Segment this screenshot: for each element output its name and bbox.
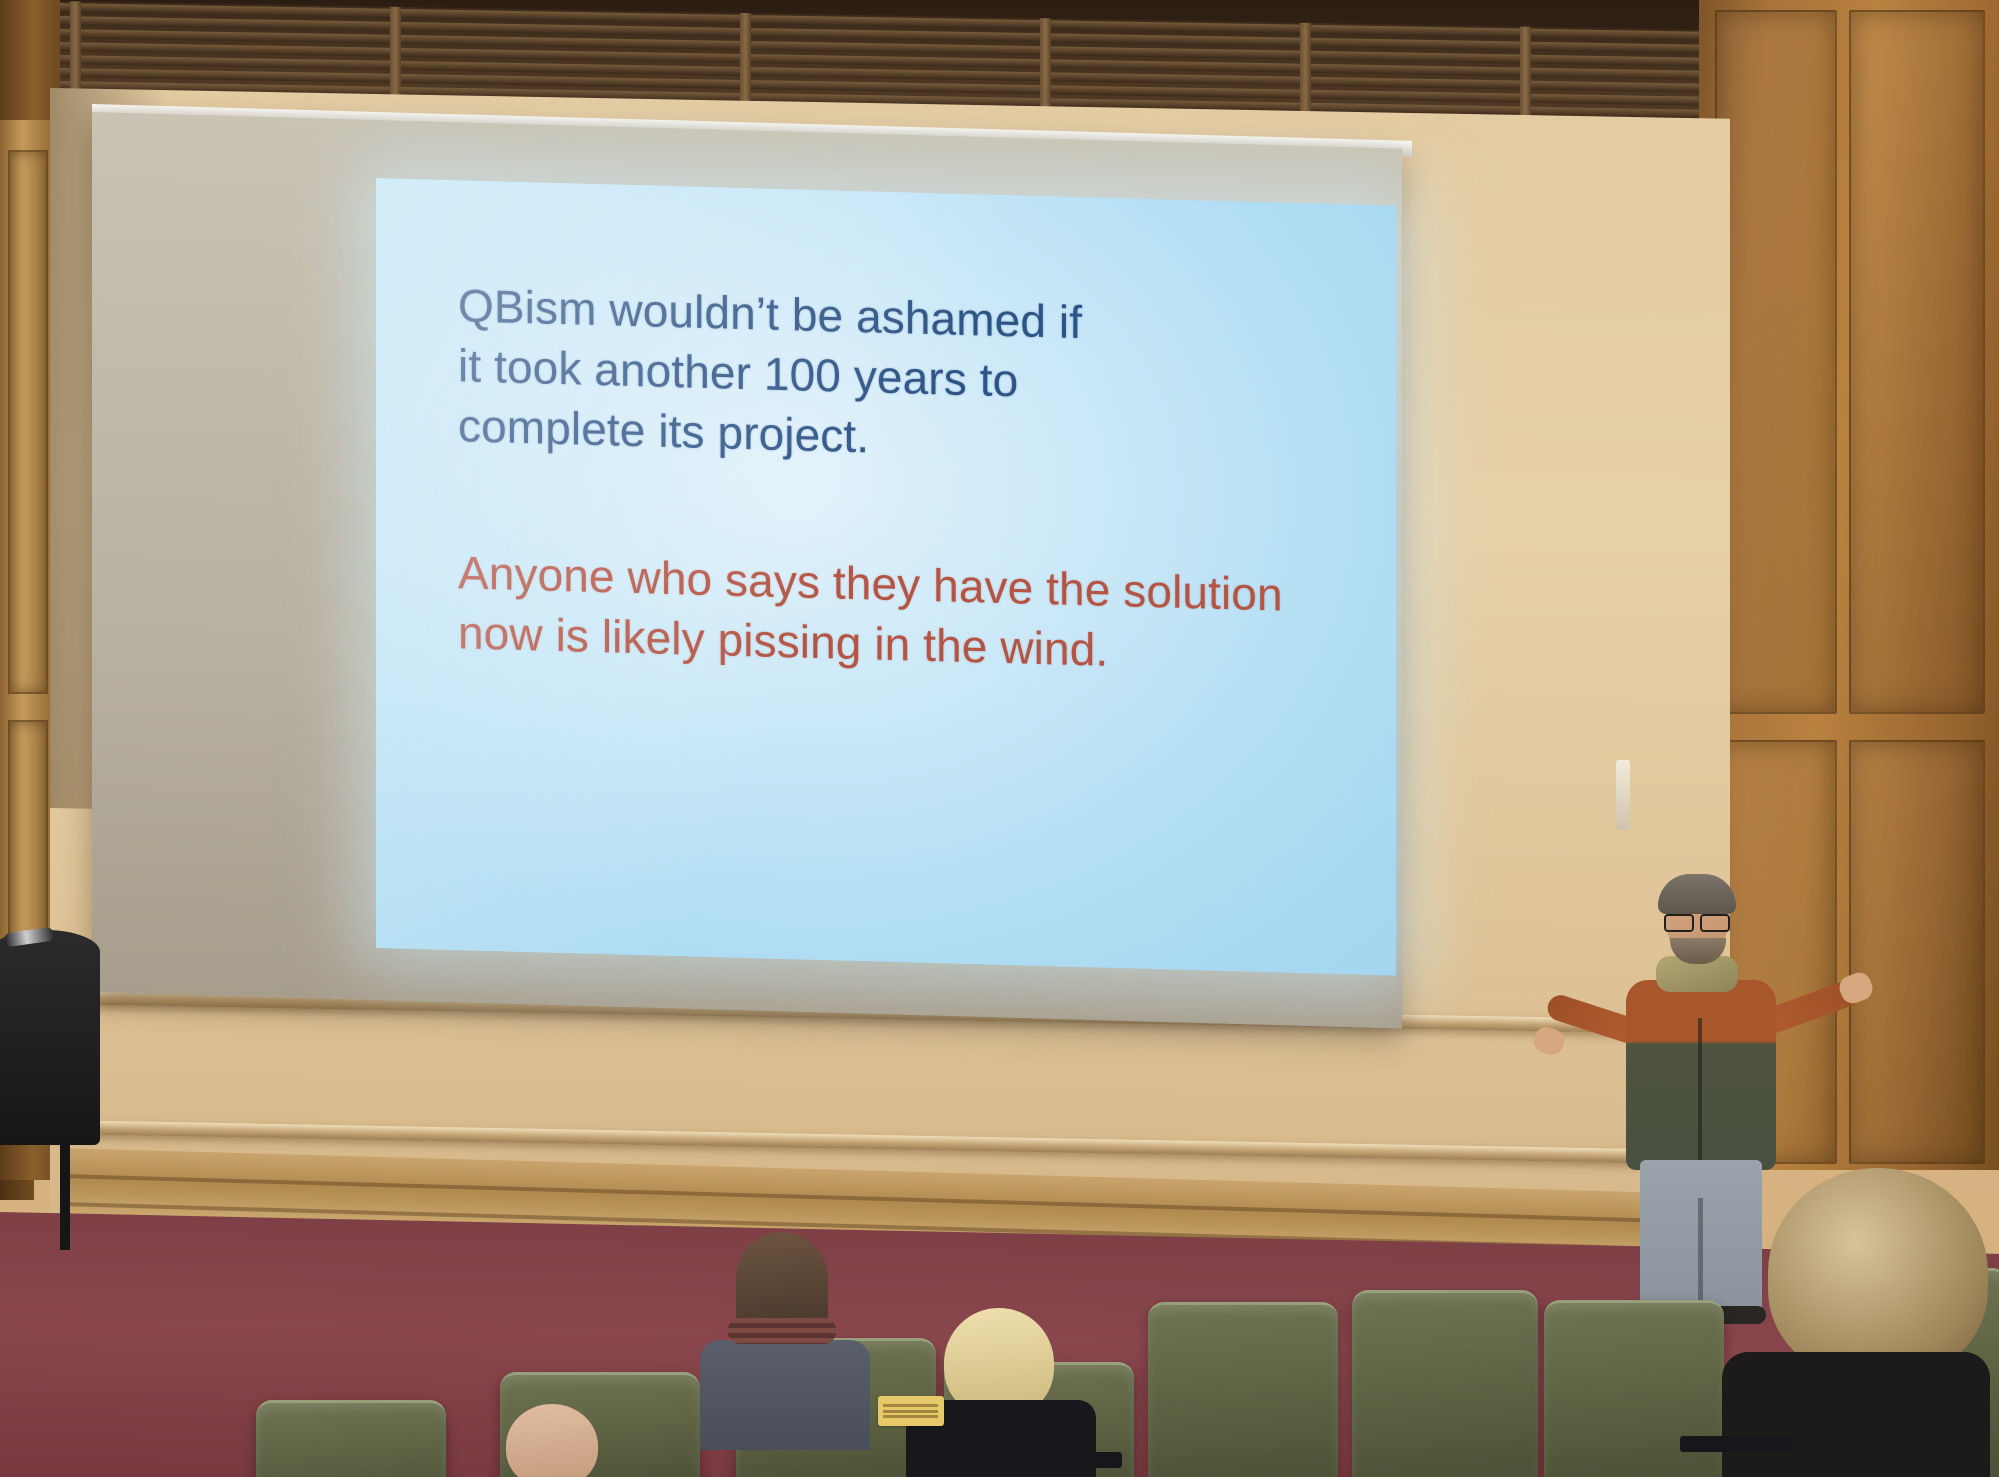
wall-light-strip [1616,760,1630,830]
presenter-hair [1658,874,1736,914]
attendee-shoulders [1722,1352,1990,1477]
attendee-shoulders [700,1340,870,1450]
laptop-icon[interactable] [1680,1436,1792,1452]
slide-text-body: QBism wouldn’t be ashamed if it took ano… [458,276,1356,687]
laptop-icon[interactable] [1032,1452,1122,1468]
chair[interactable] [1352,1290,1538,1477]
jacket-zipper [1698,1018,1702,1166]
slide-paragraph-secondary: Anyone who says they have the solution n… [458,544,1356,688]
slide-paragraph-primary: QBism wouldn’t be ashamed if it took ano… [458,276,1356,480]
trouser-seam [1698,1198,1703,1310]
attendee-scarf [728,1318,836,1344]
name-badge [878,1396,944,1426]
lecture-hall-photo: QBism wouldn’t be ashamed if it took ano… [0,0,1999,1477]
presentation-slide[interactable]: QBism wouldn’t be ashamed if it took ano… [376,178,1396,976]
glasses-icon [1664,914,1730,928]
attendee-head [1768,1168,1988,1378]
chair[interactable] [256,1400,446,1477]
chair[interactable] [1148,1302,1338,1477]
draped-side-table[interactable] [0,930,100,1145]
table-leg [60,1130,70,1250]
